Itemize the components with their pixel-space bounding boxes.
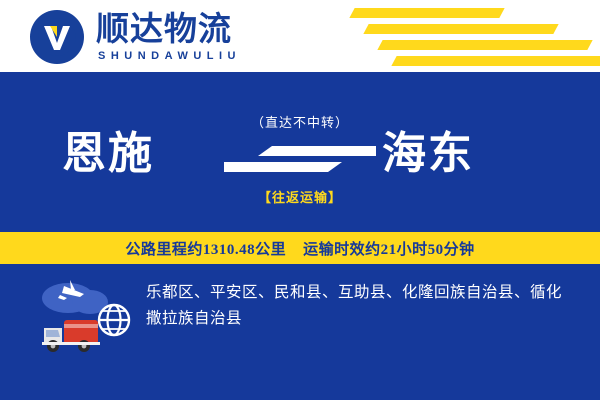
logistics-route-poster: 顺达物流 SHUNDAWULIU 恩施 （直达不中转） 【往返运输】 海东 公路… — [0, 0, 600, 400]
header-stripe — [377, 40, 592, 50]
double-arrow-icon — [224, 142, 376, 176]
header-stripe — [349, 8, 504, 18]
header: 顺达物流 SHUNDAWULIU — [0, 0, 600, 72]
truck-globe-plane-icon — [34, 276, 134, 366]
route-panel: 恩施 （直达不中转） 【往返运输】 海东 — [0, 72, 600, 232]
metrics-bar: 公路里程约1310.48公里 运输时效约21小时50分钟 — [0, 232, 600, 264]
destination-city: 海东 — [382, 130, 474, 178]
brand-pinyin: SHUNDAWULIU — [98, 50, 241, 62]
header-stripe — [391, 56, 600, 66]
header-stripe — [363, 24, 558, 34]
brand-name: 顺达物流 — [96, 12, 232, 48]
route-arrow-block: （直达不中转） 【往返运输】 — [216, 112, 384, 206]
roundtrip-label: 【往返运输】 — [216, 187, 384, 206]
coverage-panel: 乐都区、平安区、民和县、互助县、化隆回族自治县、循化撒拉族自治县 — [0, 264, 600, 400]
origin-city: 恩施 — [62, 130, 154, 178]
direct-label: （直达不中转） — [216, 112, 384, 131]
coverage-areas: 乐都区、平安区、民和县、互助县、化隆回族自治县、循化撒拉族自治县 — [146, 280, 570, 332]
metrics-text: 公路里程约1310.48公里 运输时效约21小时50分钟 — [125, 238, 474, 259]
logo-circle-icon — [30, 10, 84, 64]
